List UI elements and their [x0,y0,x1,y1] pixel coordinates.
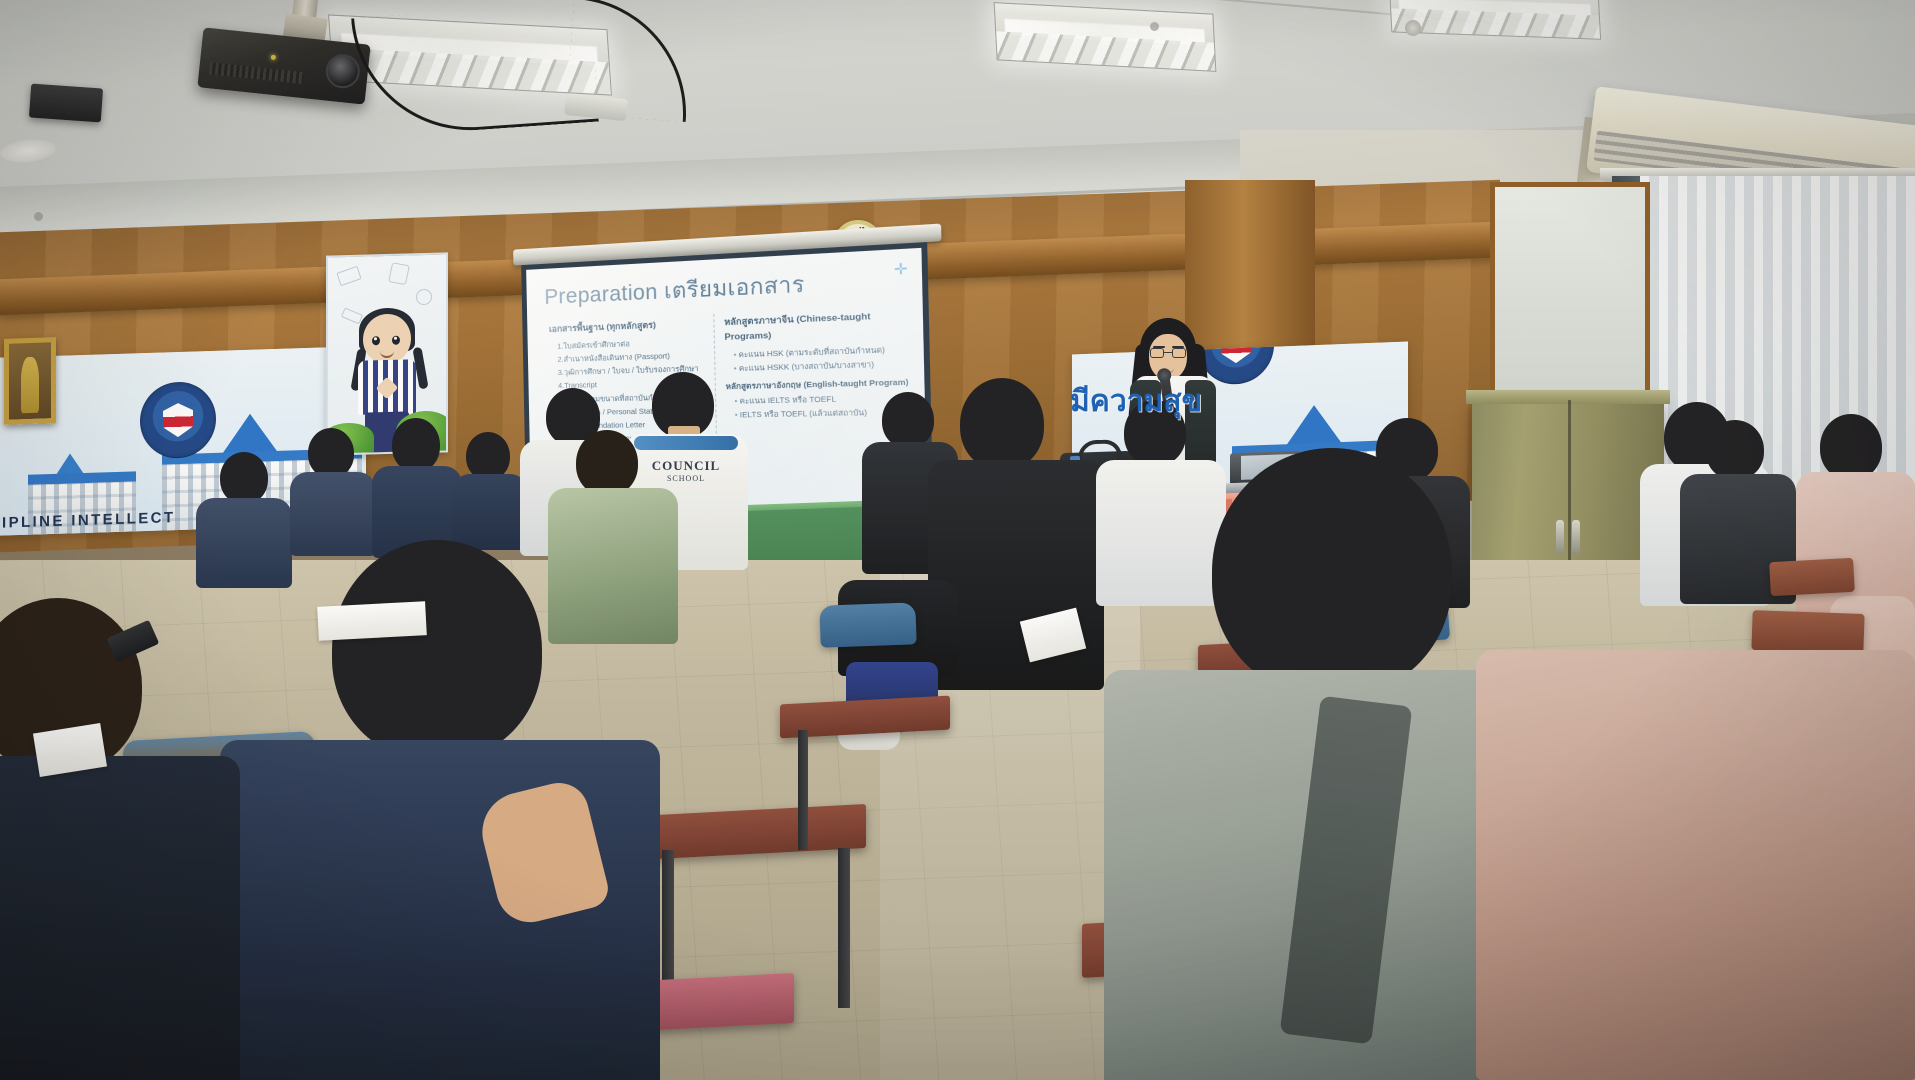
paper-handout [317,601,427,641]
student-head [576,430,638,496]
banner-right-thai-text-wrap: มีความสุข [1070,378,1202,425]
classroom-photo-scene: IPLINE INTELLECT [0,0,1915,1080]
student-head [1212,448,1452,696]
student-head [392,418,440,472]
student-head [466,432,510,480]
globe-doodle-icon [416,289,432,305]
student-foreground-right [1476,470,1915,1080]
banner-thai-motto: มีความสุข [1070,385,1202,418]
student-navy-jacket [372,418,462,548]
projector-lens-icon [324,52,361,89]
glasses-lens [1172,348,1186,358]
ceiling-speaker [29,84,103,123]
chair-backrest[interactable] [819,602,916,647]
student-head [308,428,354,478]
student-head [220,452,268,504]
book-doodle-icon [336,266,361,287]
ceiling-fixture-dot [1150,22,1159,31]
slide-left-heading: เอกสารพื้นฐาน (ทุกหลักสูตร) [549,317,703,337]
projector-status-led [271,55,276,60]
plus-icon: ✛ [894,260,908,279]
student-torso [220,740,660,1080]
desk-leg [798,730,808,850]
notebook-doodle-icon [388,262,410,285]
projector-vent [209,62,306,84]
student-with-glasses [452,432,528,542]
sprinkler-head-icon [1405,20,1421,36]
slide-right-heading-chinese: หลักสูตรภาษาจีน (Chinese-taught Programs… [724,308,919,345]
slide-right-list-chinese: คะแนน HSK (ตามระดับที่สถาบันกำหนด) คะแนน… [725,343,920,376]
glasses-bridge [1164,352,1172,353]
slide-title: Preparation เตรียมเอกสาร [544,267,805,314]
student-torso [1476,650,1915,1080]
fluorescent-light-fixture [994,2,1217,72]
glasses-icon [1150,348,1186,358]
portrait-figure [21,356,39,413]
student-torso [0,756,240,1080]
desk-leg [838,848,850,1008]
student-head [332,540,542,760]
student-back-row-left [290,428,376,548]
student-foreground-center [220,540,660,1080]
student-torso [452,474,528,550]
framed-royal-portrait [4,337,56,425]
student-head [882,392,934,448]
student-head [960,378,1044,470]
glasses-lens [1150,348,1164,358]
pencil-doodle-icon [341,307,363,324]
student-foreground-left [0,598,250,1080]
ceiling-fixture-dot [34,212,43,221]
